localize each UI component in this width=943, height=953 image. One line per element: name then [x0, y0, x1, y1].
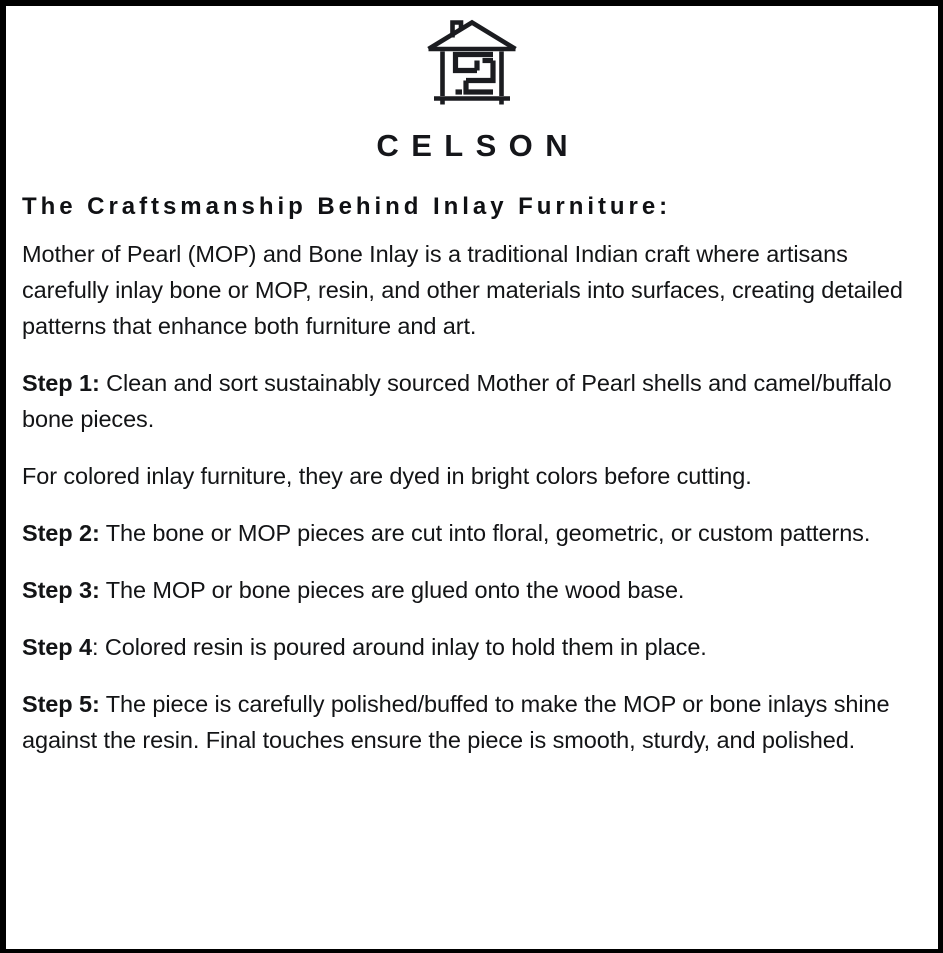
- step-3-label: Step 3:: [22, 577, 100, 603]
- brand-wordmark: CELSON: [17, 130, 927, 161]
- step-4-text: : Colored resin is poured around inlay t…: [92, 634, 707, 660]
- step-5-label: Step 5:: [22, 691, 100, 717]
- step-4-label: Step 4: [22, 634, 92, 660]
- step-1-label: Step 1:: [22, 370, 100, 396]
- step-4-paragraph: Step 4: Colored resin is poured around i…: [22, 629, 915, 686]
- intro-text: Mother of Pearl (MOP) and Bone Inlay is …: [22, 241, 903, 339]
- step-1-text: Clean and sort sustainably sourced Mothe…: [22, 370, 892, 432]
- poster-card: CELSON The Craftsmanship Behind Inlay Fu…: [0, 0, 943, 953]
- step-5-paragraph: Step 5: The piece is carefully polished/…: [22, 686, 902, 758]
- step-1-paragraph: Step 1: Clean and sort sustainably sourc…: [22, 365, 915, 458]
- step-2-paragraph: Step 2: The bone or MOP pieces are cut i…: [22, 515, 915, 572]
- step-3-text: The MOP or bone pieces are glued onto th…: [100, 577, 685, 603]
- poster-inner: CELSON The Craftsmanship Behind Inlay Fu…: [6, 6, 938, 949]
- body-copy: Mother of Pearl (MOP) and Bone Inlay is …: [22, 222, 915, 758]
- step-3-paragraph: Step 3: The MOP or bone pieces are glued…: [22, 572, 915, 629]
- note-text: For colored inlay furniture, they are dy…: [22, 463, 752, 489]
- step-2-label: Step 2:: [22, 520, 100, 546]
- note-paragraph: For colored inlay furniture, they are dy…: [22, 458, 915, 515]
- house-monogram-logo-icon: [420, 16, 524, 116]
- brand-block: CELSON: [17, 14, 927, 161]
- page-title: The Craftsmanship Behind Inlay Furniture…: [22, 193, 927, 222]
- intro-paragraph: Mother of Pearl (MOP) and Bone Inlay is …: [22, 236, 915, 365]
- step-5-text: The piece is carefully polished/buffed t…: [22, 691, 889, 753]
- step-2-text: The bone or MOP pieces are cut into flor…: [100, 520, 871, 546]
